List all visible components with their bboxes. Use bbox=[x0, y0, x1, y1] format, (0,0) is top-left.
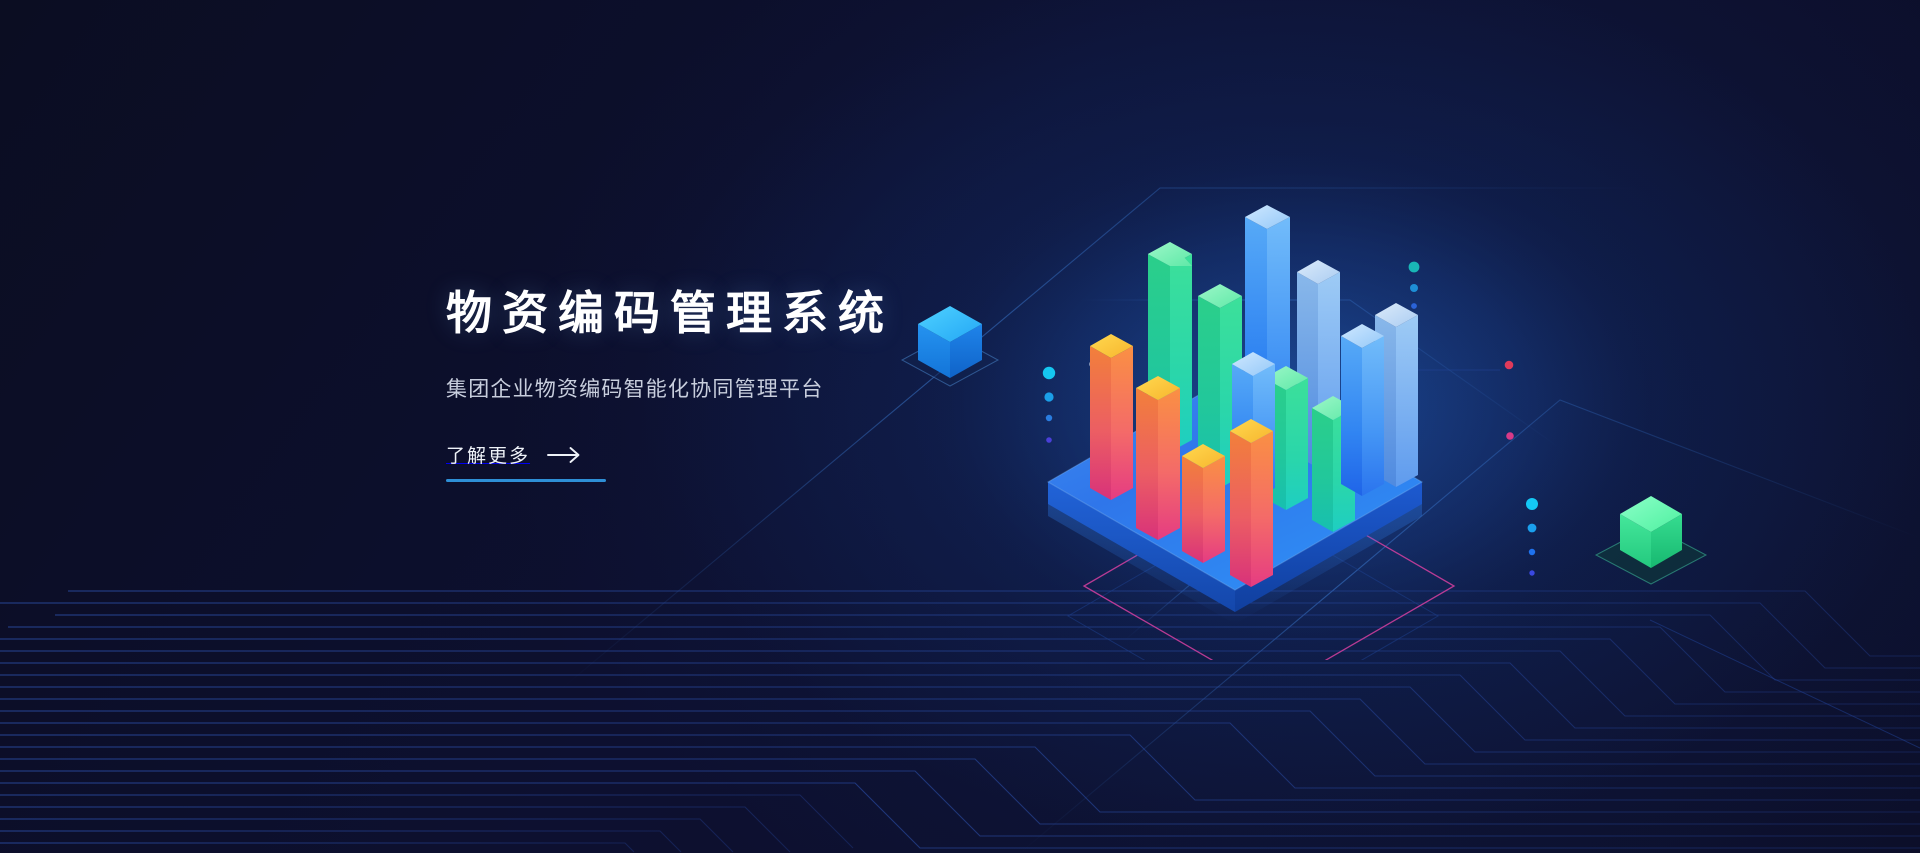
hero-content: 物资编码管理系统 集团企业物资编码智能化协同管理平台 了解更多 bbox=[446, 287, 1086, 482]
bar-orange-1 bbox=[1090, 334, 1133, 500]
learn-more-row: 了解更多 bbox=[446, 441, 581, 479]
bar-orange-2 bbox=[1136, 376, 1180, 540]
hero-banner: 物资编码管理系统 集团企业物资编码智能化协同管理平台 了解更多 bbox=[0, 0, 1920, 853]
green-isometric-cube bbox=[1588, 482, 1714, 598]
bar-blue-4 bbox=[1341, 324, 1384, 496]
learn-more-label: 了解更多 bbox=[446, 441, 530, 468]
arrow-right-icon bbox=[547, 446, 581, 464]
page-title: 物资编码管理系统 bbox=[446, 287, 1086, 340]
page-subtitle: 集团企业物资编码智能化协同管理平台 bbox=[446, 373, 1086, 403]
bar-orange-4 bbox=[1230, 419, 1273, 587]
circuit-line-pattern bbox=[0, 591, 1920, 852]
pink-dot bbox=[1506, 432, 1514, 440]
learn-more-underline bbox=[446, 479, 606, 482]
bar-orange-3 bbox=[1182, 444, 1225, 563]
red-dot bbox=[1505, 361, 1514, 370]
learn-more-button[interactable]: 了解更多 bbox=[446, 441, 606, 482]
isometric-bar-chart-illustration bbox=[1020, 200, 1500, 660]
